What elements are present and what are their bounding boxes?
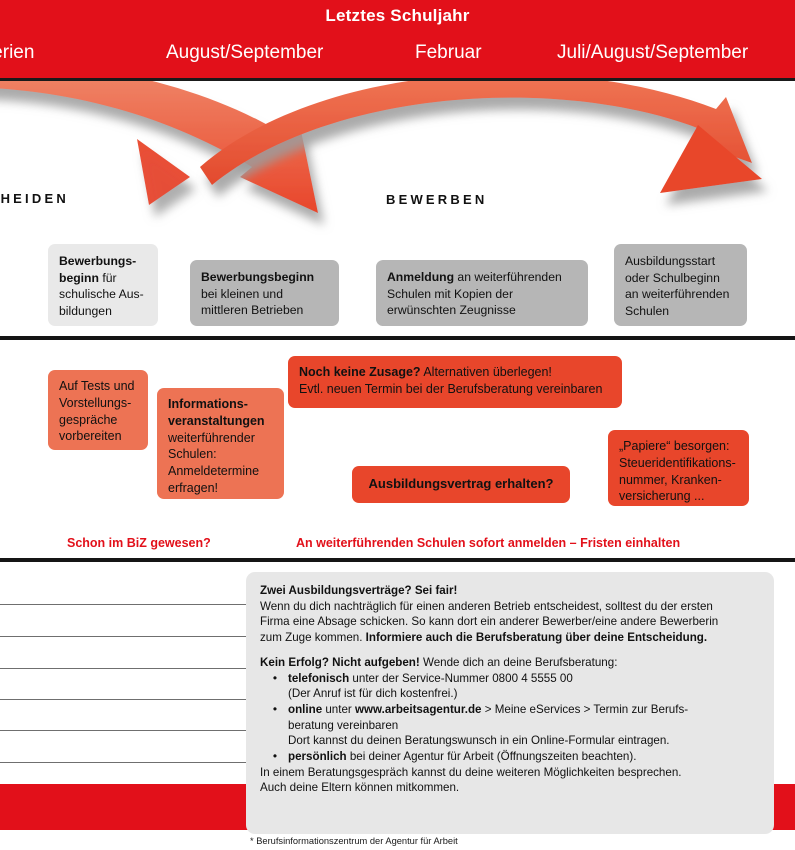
orange-box-2-line2: Evtl. neuen Termin bei der Berufsberatun… <box>299 382 602 396</box>
orange-box-1-bold2: veranstaltungen <box>168 414 265 428</box>
bullet-icon: • <box>271 671 279 687</box>
orange-box-4-line1: „Papiere“ besorgen: <box>619 439 729 453</box>
orange-box-4-line2: Steueridentifikations- <box>619 456 736 470</box>
list-item: • online unter www.arbeitsagentur.de > M… <box>260 702 758 749</box>
gray-box-0-line3: schulische Aus- <box>59 287 144 301</box>
orange-box-noch-keine-zusage: Noch keine Zusage? Alternativen überlege… <box>288 356 622 408</box>
gray-box-1-line2: bei kleinen und <box>201 287 283 301</box>
gray-box-2-line2: Schulen mit Kopien der <box>387 287 513 301</box>
orange-box-papiere-besorgen: „Papiere“ besorgen: Steueridentifikation… <box>608 430 749 506</box>
orange-box-1-line6: erfragen! <box>168 481 218 495</box>
gray-box-1-bold: Bewerbungsbeginn <box>201 270 314 284</box>
footnote: * Berufsinformationszentrum der Agentur … <box>250 836 730 846</box>
bullet-1-sub2: Dort kannst du deinen Beratungswunsch in… <box>288 734 670 747</box>
gray-box-3-line4: Schulen <box>625 304 669 318</box>
gray-box-3-line3: an weiterführenden <box>625 287 729 301</box>
gray-box-2-rest: an weiterführenden <box>454 270 562 284</box>
orange-box-4-line4: versicherung ... <box>619 489 704 503</box>
bullet-1-sub1: beratung vereinbaren <box>288 719 398 732</box>
red-note-biz: Schon im BiZ gewesen? <box>67 536 211 550</box>
info-para1-line3: zum Zuge kommen. Informiere auch die Ber… <box>260 630 758 646</box>
bullet-1-link[interactable]: www.arbeitsagentur.de <box>355 703 482 716</box>
note-line-2 <box>0 636 250 637</box>
orange-box-0-line4: vorbereiten <box>59 429 122 443</box>
bullet-1-bold: online <box>288 703 322 716</box>
gray-box-0-bold-2: beginn <box>59 271 99 285</box>
gray-milestone-row: Bewerbungs- beginn für schulische Aus- b… <box>0 236 795 336</box>
arrow-label-bewerben: BEWERBEN <box>386 192 487 207</box>
timeline-arrow-band: CHEIDEN BEWERBEN <box>0 81 795 236</box>
header-period-1: August/September <box>166 42 323 64</box>
info-para2-heading: Kein Erfolg? Nicht aufgeben! Wende dich … <box>260 655 758 671</box>
orange-box-1-line5: Anmeldetermine <box>168 464 259 478</box>
info-closing-line2: Auch deine Eltern können mitkommen. <box>260 780 758 796</box>
gray-box-0-rest: für <box>99 271 117 285</box>
header-period-0: erferien <box>0 42 34 64</box>
list-item: • telefonisch unter der Service-Nummer 0… <box>260 671 758 702</box>
gray-box-1-line3: mittleren Betrieben <box>201 303 303 317</box>
bullet-1-rest: > Meine eServices > Termin zur Berufs- <box>482 703 689 716</box>
bullet-2-bold: persönlich <box>288 750 347 763</box>
orange-box-3-bold: Ausbildungsvertrag erhalten? <box>369 476 554 493</box>
bullet-0-bold: telefonisch <box>288 672 349 685</box>
gray-box-2-line3: erwünschten Zeugnisse <box>387 303 516 317</box>
info-para1-line1: Wenn du dich nachträglich für einen ande… <box>260 599 758 615</box>
gray-box-bewerbungsbeginn-betriebe: Bewerbungsbeginn bei kleinen und mittler… <box>190 260 339 326</box>
bullet-icon: • <box>271 702 279 718</box>
header-red-band: Letztes Schuljahr erferien August/Septem… <box>0 0 795 78</box>
orange-box-2-bold: Noch keine Zusage? <box>299 365 421 379</box>
info-panel: Zwei Ausbildungsverträge? Sei fair! Wenn… <box>246 572 774 834</box>
orange-box-2-rest: Alternativen überlegen! <box>421 365 552 379</box>
bullet-0-sub1: (Der Anruf ist für dich kostenfrei.) <box>288 687 457 700</box>
info-para1-heading: Zwei Ausbildungsverträge? Sei fair! <box>260 583 758 599</box>
gray-box-3-line2: oder Schulbeginn <box>625 271 720 285</box>
orange-box-0-line1: Auf Tests und <box>59 379 135 393</box>
process-arrow-graphic <box>0 81 795 236</box>
red-note-fristen: An weiterführenden Schulen sofort anmeld… <box>296 536 680 550</box>
bullet-1-mid: unter <box>322 703 355 716</box>
info-para2-rest: Wende dich an deine Berufsberatung: <box>420 656 618 669</box>
orange-box-0-line3: gespräche <box>59 413 117 427</box>
arrow-label-entscheiden: CHEIDEN <box>0 191 69 206</box>
orange-task-band: Auf Tests und Vorstellungs- gespräche vo… <box>0 340 795 558</box>
gray-box-2-bold: Anmeldung <box>387 270 454 284</box>
note-line-6 <box>0 762 250 763</box>
section-divider-rule-2 <box>0 558 795 562</box>
gray-box-bewerbungsbeginn-schulische: Bewerbungs- beginn für schulische Aus- b… <box>48 244 158 326</box>
page-title: Letztes Schuljahr <box>0 6 795 26</box>
gray-box-0-line4: bildungen <box>59 304 112 318</box>
bullet-2-rest: bei deiner Agentur für Arbeit (Öffnungsz… <box>347 750 637 763</box>
list-item: • persönlich bei deiner Agentur für Arbe… <box>260 749 758 765</box>
gray-box-0-bold-1: Bewerbungs- <box>59 254 136 268</box>
orange-box-ausbildungsvertrag-erhalten: Ausbildungsvertrag erhalten? <box>352 466 570 503</box>
orange-box-1-bold1: Informations- <box>168 397 248 411</box>
gray-box-anmeldung-weiterfuehrende: Anmeldung an weiterführenden Schulen mit… <box>376 260 588 326</box>
note-line-4 <box>0 699 250 700</box>
orange-box-4-line3: nummer, Kranken- <box>619 473 722 487</box>
info-para1-line2: Firma eine Absage schicken. So kann dort… <box>260 614 758 630</box>
info-para1-bold: Zwei Ausbildungsverträge? Sei fair! <box>260 584 457 597</box>
bullet-0-rest: unter der Service-Nummer 0800 4 5555 00 <box>349 672 573 685</box>
orange-box-0-line2: Vorstellungs- <box>59 396 131 410</box>
note-line-5 <box>0 730 250 731</box>
info-closing-line1: In einem Beratungsgespräch kannst du dei… <box>260 765 758 781</box>
orange-box-1-line3: weiterführender <box>168 431 255 445</box>
orange-box-1-line4: Schulen: <box>168 447 217 461</box>
info-bullet-list: • telefonisch unter der Service-Nummer 0… <box>260 671 758 765</box>
gray-box-3-line1: Ausbildungsstart <box>625 254 715 268</box>
orange-box-informationsveranstaltungen: Informations- veranstaltungen weiterführ… <box>157 388 284 499</box>
note-line-1 <box>0 604 250 605</box>
bullet-icon: • <box>271 749 279 765</box>
header-period-3: Juli/August/September <box>557 42 748 64</box>
info-spacer <box>260 646 758 655</box>
header-period-2: Februar <box>415 42 482 64</box>
note-line-3 <box>0 668 250 669</box>
orange-box-tests-vorbereiten: Auf Tests und Vorstellungs- gespräche vo… <box>48 370 148 450</box>
info-para1-line3-bold: Informiere auch die Berufsberatung über … <box>366 631 707 644</box>
info-para1-line3-plain: zum Zuge kommen. <box>260 631 366 644</box>
info-para2-bold: Kein Erfolg? Nicht aufgeben! <box>260 656 420 669</box>
gray-box-ausbildungsstart: Ausbildungsstart oder Schulbeginn an wei… <box>614 244 747 326</box>
